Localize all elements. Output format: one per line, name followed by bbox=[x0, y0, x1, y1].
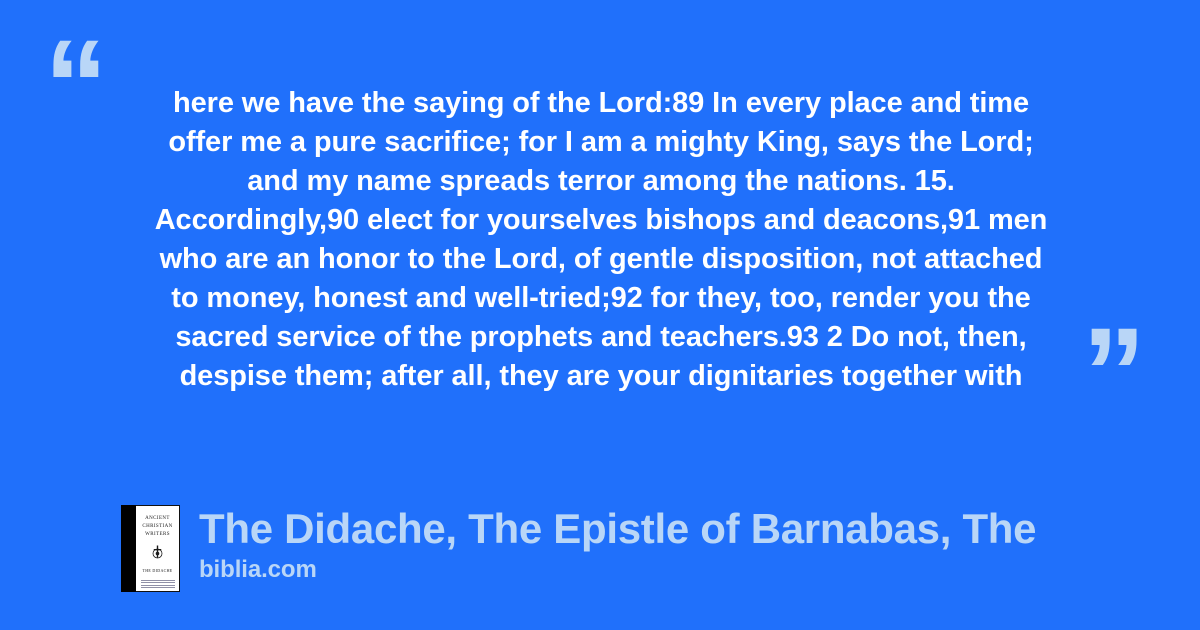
quote-line: despise them; after all, they are your d… bbox=[125, 357, 1077, 396]
book-cover-spine bbox=[121, 505, 136, 592]
quote-line: here we have the saying of the Lord:89 I… bbox=[125, 84, 1077, 123]
quote-line: offer me a pure sacrifice; for I am a mi… bbox=[125, 123, 1077, 162]
cover-rule bbox=[141, 580, 175, 581]
quote-card: “ here we have the saying of the Lord:89… bbox=[0, 0, 1200, 630]
cover-rule bbox=[141, 585, 175, 586]
book-cover-face: ANCIENT CHRISTIAN WRITERS THE DIDACHE bbox=[136, 505, 180, 592]
quote-line: who are an honor to the Lord, of gentle … bbox=[125, 240, 1077, 279]
open-quote-icon: “ bbox=[44, 22, 106, 150]
site-domain: biblia.com bbox=[199, 556, 1036, 584]
book-title: The Didache, The Epistle of Barnabas, Th… bbox=[199, 506, 1036, 552]
quote-line: sacred service of the prophets and teach… bbox=[125, 318, 1077, 357]
footer: ANCIENT CHRISTIAN WRITERS THE DIDACHE bbox=[121, 505, 1036, 592]
cover-series-line: ANCIENT bbox=[145, 515, 170, 523]
cover-title-line: THE DIDACHE bbox=[142, 568, 172, 573]
quote-line: to money, honest and well-tried;92 for t… bbox=[125, 279, 1077, 318]
cover-series-line: CHRISTIAN bbox=[142, 523, 172, 531]
quote-line: Accordingly,90 elect for yourselves bish… bbox=[125, 201, 1077, 240]
close-quote-icon: ” bbox=[1082, 310, 1144, 438]
cover-rule bbox=[141, 587, 175, 588]
footer-text-block: The Didache, The Epistle of Barnabas, Th… bbox=[199, 506, 1036, 584]
quote-line: and my name spreads terror among the nat… bbox=[125, 162, 1077, 201]
cover-rule bbox=[141, 582, 175, 583]
book-cover-thumbnail: ANCIENT CHRISTIAN WRITERS THE DIDACHE bbox=[121, 505, 180, 592]
cross-emblem-icon bbox=[151, 544, 164, 559]
cover-imprint-lines bbox=[141, 578, 175, 590]
quote-text-block: here we have the saying of the Lord:89 I… bbox=[125, 84, 1077, 396]
cover-series-line: WRITERS bbox=[145, 531, 170, 539]
